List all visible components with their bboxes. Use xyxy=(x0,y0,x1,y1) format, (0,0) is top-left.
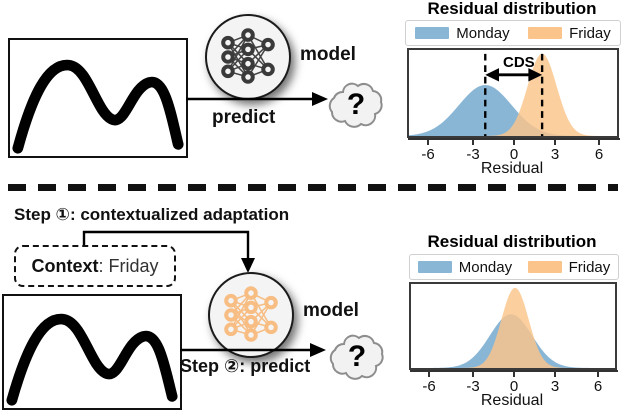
legend-item-friday-bottom: Friday xyxy=(528,259,611,276)
step2-label: Step ②: predict xyxy=(180,356,310,377)
cloud-shape-bottom: ? xyxy=(326,330,388,384)
context-key-label: Context xyxy=(31,256,98,277)
chart-title-bottom: Residual distribution xyxy=(398,232,626,252)
context-value-label: : Friday xyxy=(98,256,158,277)
output-thought-cloud-top: ? xyxy=(325,78,387,132)
model-label-bottom: model xyxy=(303,300,359,322)
plot-area-bottom xyxy=(409,282,617,370)
bottom-residual-chart: Residual distribution Monday Friday xyxy=(398,232,626,408)
legend-item-friday-top: Friday xyxy=(528,25,611,42)
input-signal-waveform-top xyxy=(10,40,186,156)
legend-label-friday-bottom: Friday xyxy=(569,259,611,276)
cloud-question-mark-bottom: ? xyxy=(348,340,366,373)
density-curve-friday-bottom xyxy=(411,288,615,368)
model-circle-top xyxy=(205,14,291,100)
predict-label-top: predict xyxy=(212,107,275,129)
cloud-question-mark-top: ? xyxy=(347,88,365,121)
model-label-top: model xyxy=(300,44,356,66)
legend-swatch-monday-bottom xyxy=(418,261,452,273)
output-thought-cloud-bottom: ? xyxy=(326,330,388,384)
step1-label: Step ①: contextualized adaptation xyxy=(14,205,289,225)
legend-swatch-monday-top xyxy=(415,27,449,39)
legend-label-monday-top: Monday xyxy=(456,25,509,42)
predict-arrow-top xyxy=(186,90,330,108)
x-axis-title-bottom: Residual xyxy=(398,392,626,410)
legend-swatch-friday-bottom xyxy=(528,261,562,273)
neural-network-icon-top xyxy=(207,16,289,98)
chart-legend-top: Monday Friday xyxy=(405,20,621,46)
top-residual-chart: Residual distribution Monday Friday CDS xyxy=(398,0,626,176)
legend-label-friday-top: Friday xyxy=(569,25,611,42)
cds-label-top: CDS xyxy=(503,54,535,71)
legend-item-monday-top: Monday xyxy=(415,25,509,42)
section-divider xyxy=(8,184,618,191)
context-box[interactable]: Context : Friday xyxy=(14,245,176,287)
input-signal-box-bottom xyxy=(2,294,182,410)
chart-legend-bottom: Monday Friday xyxy=(409,254,619,280)
legend-swatch-friday-top xyxy=(528,27,562,39)
chart-title-top: Residual distribution xyxy=(398,0,626,19)
legend-label-monday-bottom: Monday xyxy=(459,259,512,276)
x-axis-title-top: Residual xyxy=(398,160,626,178)
legend-item-monday-bottom: Monday xyxy=(418,259,512,276)
input-signal-box-top xyxy=(8,38,188,158)
cloud-shape-top: ? xyxy=(325,78,387,132)
input-signal-waveform-bottom xyxy=(4,296,180,408)
